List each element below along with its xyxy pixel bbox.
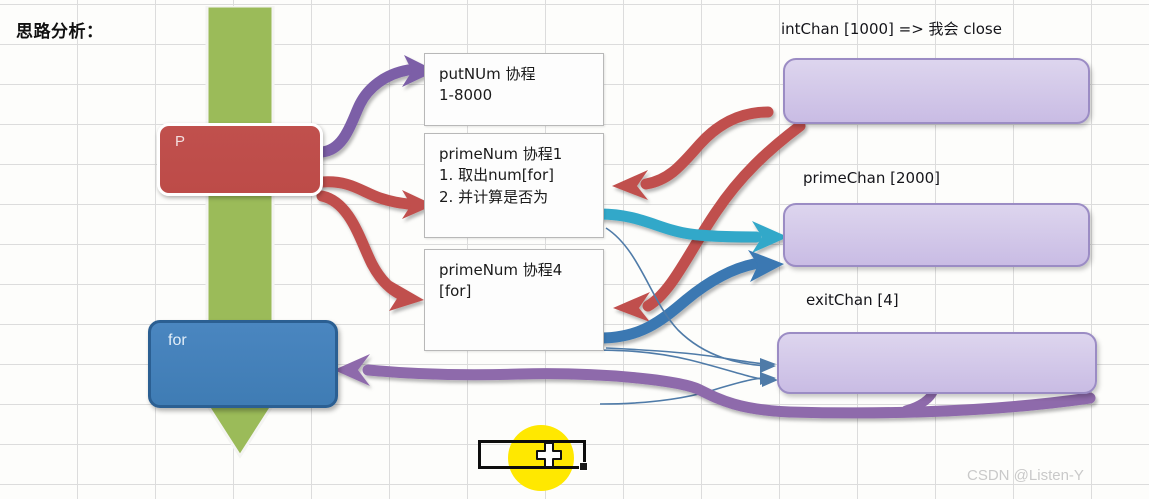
label-primechan: primeChan [2000] (803, 169, 940, 187)
note-primenum4-line-2: [for] (439, 281, 593, 302)
arrow-primenum4-to-primechan (600, 250, 784, 338)
page-title: 思路分析： (16, 17, 104, 42)
label-intchan: intChan [1000] => 我会 close (781, 18, 1002, 39)
loop-box-for-label: for (168, 332, 187, 350)
note-primenum4-line-1: primeNum 协程4 (439, 260, 593, 281)
note-primenum4[interactable]: primeNum 协程4 [for] (424, 249, 604, 351)
channel-box-exitchan[interactable]: T T T T (777, 332, 1097, 394)
cell-selection-box[interactable] (478, 440, 586, 469)
channel-box-intchan[interactable] (783, 58, 1090, 124)
channel-box-primechan[interactable] (783, 203, 1090, 267)
cross-cursor-icon (536, 442, 562, 468)
watermark: CSDN @Listen-Y (967, 467, 1084, 484)
note-putnum-line-1: putNUm 协程 (439, 64, 593, 85)
loop-box-for[interactable]: for (148, 320, 338, 408)
arrow-intchan-to-primenum1 (612, 112, 768, 200)
process-box-p-label: P (175, 133, 185, 150)
note-primenum1-line-3: 2. 并计算是否为 (439, 187, 593, 208)
cell-fill-handle[interactable] (579, 462, 588, 471)
note-putnum-line-2: 1-8000 (439, 85, 593, 106)
label-exitchan: exitChan [4] (806, 291, 899, 309)
process-box-p[interactable]: P (157, 123, 323, 196)
note-primenum1[interactable]: primeNum 协程1 1. 取出num[for] 2. 并计算是否为 (424, 133, 604, 238)
note-primenum1-line-2: 1. 取出num[for] (439, 165, 593, 186)
diagram-canvas: 思路分析： P for putNUm 协程 1-8000 primeNum 协程… (0, 0, 1149, 499)
note-putnum[interactable]: putNUm 协程 1-8000 (424, 53, 604, 126)
arrow-p-to-putnum (322, 55, 436, 152)
note-primenum1-line-1: primeNum 协程1 (439, 144, 593, 165)
